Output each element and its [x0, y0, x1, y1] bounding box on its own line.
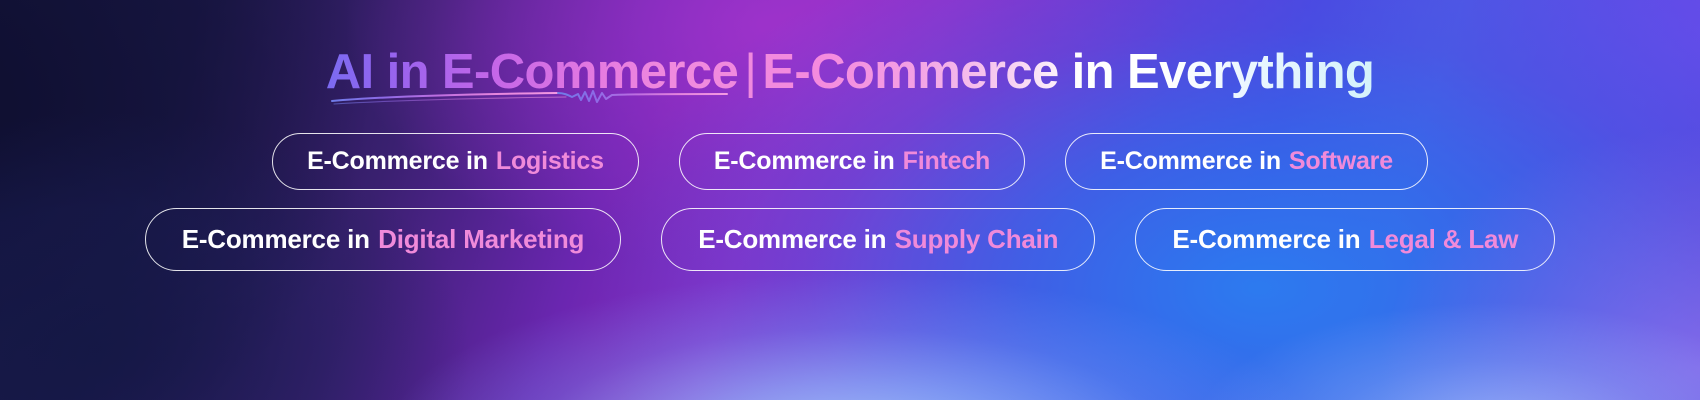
pill-logistics[interactable]: E-Commerce in Logistics [272, 133, 639, 190]
headline-divider: | [738, 45, 762, 99]
pill-lead-text: E-Commerce in [714, 147, 895, 176]
pill-row-1: E-Commerce in Logistics E-Commerce in Fi… [272, 133, 1428, 190]
pill-row-2: E-Commerce in Digital Marketing E-Commer… [145, 208, 1556, 271]
pill-lead-text: E-Commerce in [307, 147, 488, 176]
page-title: AI in E-Commerce|E-Commerce in Everythin… [326, 46, 1374, 99]
pill-accent-text: Software [1289, 147, 1393, 176]
pill-fintech[interactable]: E-Commerce in Fintech [679, 133, 1025, 190]
pill-accent-text: Logistics [496, 147, 604, 176]
headline-part-one: AI in E-Commerce [326, 45, 738, 99]
headline-part-two: E-Commerce in Everything [762, 45, 1374, 99]
banner-content: AI in E-Commerce|E-Commerce in Everythin… [0, 0, 1700, 400]
headline-block: AI in E-Commerce|E-Commerce in Everythin… [326, 46, 1374, 99]
pill-accent-text: Supply Chain [895, 224, 1059, 255]
pill-lead-text: E-Commerce in [1100, 147, 1281, 176]
pill-digital-marketing[interactable]: E-Commerce in Digital Marketing [145, 208, 622, 271]
pill-lead-text: E-Commerce in [698, 224, 886, 255]
pill-software[interactable]: E-Commerce in Software [1065, 133, 1428, 190]
promo-banner: AI in E-Commerce|E-Commerce in Everythin… [0, 0, 1700, 400]
pill-accent-text: Legal & Law [1369, 224, 1519, 255]
pill-supply-chain[interactable]: E-Commerce in Supply Chain [661, 208, 1095, 271]
pill-lead-text: E-Commerce in [1172, 224, 1360, 255]
pill-legal-and-law[interactable]: E-Commerce in Legal & Law [1135, 208, 1555, 271]
pill-accent-text: Digital Marketing [378, 224, 584, 255]
pill-lead-text: E-Commerce in [182, 224, 370, 255]
category-pill-rows: E-Commerce in Logistics E-Commerce in Fi… [145, 133, 1556, 271]
pill-accent-text: Fintech [903, 147, 991, 176]
